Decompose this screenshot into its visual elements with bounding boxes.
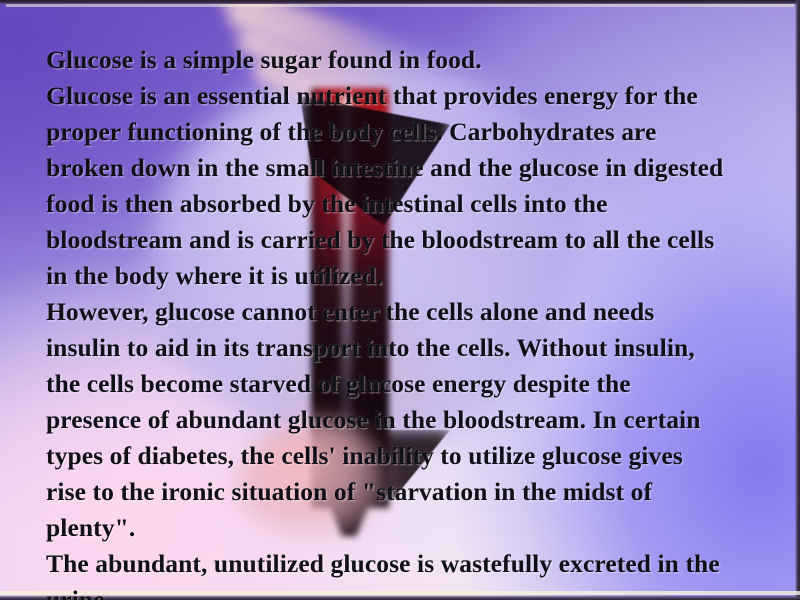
text-line: rise to the ironic situation of "starvat…	[46, 477, 652, 506]
text-line: the cells become starved of glucose ener…	[46, 369, 631, 398]
text-line: Glucose is a simple sugar found in food.	[46, 45, 482, 74]
text-line: broken down in the small intestine and t…	[46, 153, 723, 182]
paragraph-2: However, glucose cannot enter the cells …	[46, 294, 776, 546]
text-line: presence of abundant glucose in the bloo…	[46, 405, 701, 434]
paragraph-3: The abundant, unutilized glucose is wast…	[46, 546, 776, 600]
text-line: food is then absorbed by the intestinal …	[46, 189, 607, 218]
text-line: urine.	[46, 585, 111, 600]
text-line: The abundant, unutilized glucose is wast…	[46, 549, 720, 578]
text-line: insulin to aid in its transport into the…	[46, 333, 695, 362]
text-line: plenty".	[46, 513, 135, 542]
presentation-slide: Glucose is a simple sugar found in food.…	[0, 0, 800, 600]
text-line: bloodstream and is carried by the bloods…	[46, 225, 714, 254]
text-line: in the body where it is utilized.	[46, 261, 382, 290]
slide-right-border	[795, 0, 800, 600]
slide-top-highlight	[6, 4, 794, 7]
text-line: However, glucose cannot enter the cells …	[46, 297, 654, 326]
text-line: proper functioning of the body cells. Ca…	[46, 117, 656, 146]
slide-text-body: Glucose is a simple sugar found in food.…	[46, 42, 776, 600]
paragraph-1: Glucose is a simple sugar found in food.…	[46, 42, 776, 294]
text-line: types of diabetes, the cells' inability …	[46, 441, 683, 470]
text-line: Glucose is an essential nutrient that pr…	[46, 81, 698, 110]
